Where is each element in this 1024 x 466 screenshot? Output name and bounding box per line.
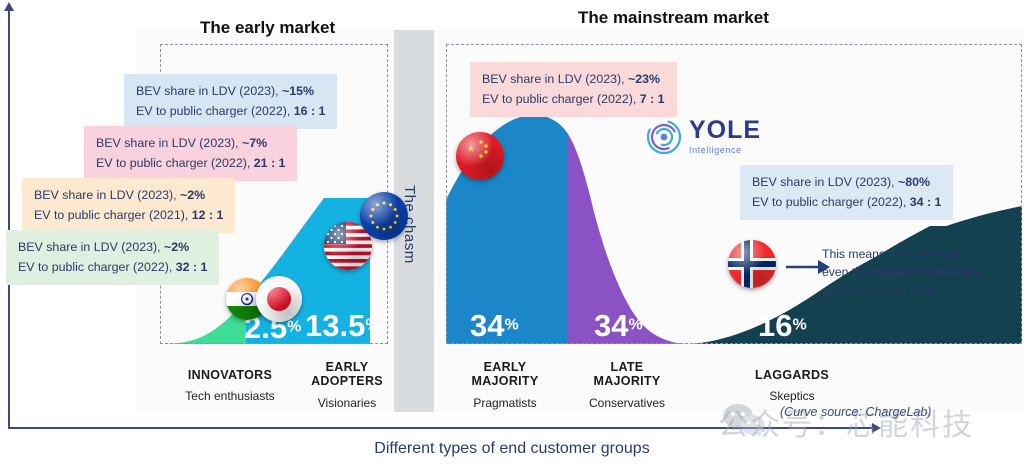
category-innovators: INNOVATORS Tech enthusiasts bbox=[160, 368, 300, 403]
callout-line-1: BEV share in LDV (2023), ~2% bbox=[18, 237, 207, 257]
callout-eu: BEV share in LDV (2023), ~15% EV to publ… bbox=[124, 74, 337, 129]
value-laggards: 16 bbox=[758, 308, 792, 343]
norway-note: This means that in Norway, even the lagg… bbox=[822, 245, 1012, 300]
category-name: INNOVATORS bbox=[160, 368, 300, 382]
curve-source-note: (Curve source: ChargeLab) bbox=[780, 405, 931, 419]
value-label-late-majority: 34% bbox=[594, 310, 643, 341]
callout-line-2: EV to public charger (2022), 7 : 1 bbox=[482, 89, 665, 109]
callout-line-2: EV to public charger (2021), 12 : 1 bbox=[34, 205, 223, 225]
category-name: EARLY MAJORITY bbox=[444, 360, 566, 389]
callout-line-2: EV to public charger (2022), 34 : 1 bbox=[752, 192, 941, 212]
callout-line-1: BEV share in LDV (2023), ~80% bbox=[752, 172, 941, 192]
chart-canvas: The early market The mainstream market T… bbox=[0, 0, 1024, 466]
value-label-early-adopters: 13.5% bbox=[305, 310, 380, 341]
value-label-laggards: 16% bbox=[758, 310, 807, 341]
category-subtitle: Tech enthusiasts bbox=[160, 389, 300, 403]
callout-line-2: EV to public charger (2022), 16 : 1 bbox=[136, 101, 325, 121]
percent-sign: % bbox=[792, 317, 806, 334]
category-early-adopters: EARLY ADOPTERS Visionaries bbox=[288, 360, 406, 410]
yole-logo: YOLE Intelligence bbox=[646, 118, 761, 155]
callout-line-1: BEV share in LDV (2023), ~2% bbox=[34, 185, 223, 205]
norway-note-line-2: even the laggard customers bbox=[822, 263, 1012, 281]
yole-wordmark: YOLE bbox=[689, 118, 761, 143]
category-name: LATE MAJORITY bbox=[566, 360, 688, 389]
category-laggards: LAGGARDS Skeptics bbox=[716, 368, 868, 403]
category-subtitle: Conservatives bbox=[566, 396, 688, 410]
callout-line-2: EV to public charger (2022), 32 : 1 bbox=[18, 257, 207, 277]
callout-norway: BEV share in LDV (2023), ~80% EV to publ… bbox=[740, 165, 953, 220]
callout-japan: BEV share in LDV (2023), ~2% EV to publi… bbox=[22, 178, 235, 233]
value-late-majority: 34 bbox=[594, 308, 628, 343]
callout-china: BEV share in LDV (2023), ~23% EV to publ… bbox=[470, 62, 677, 117]
mainstream-market-title: The mainstream market bbox=[578, 8, 769, 28]
value-label-early-majority: 34% bbox=[470, 310, 519, 341]
x-axis-caption: Different types of end customer groups bbox=[0, 440, 1024, 458]
percent-sign: % bbox=[365, 317, 379, 334]
percent-sign: % bbox=[628, 317, 642, 334]
callout-line-1: BEV share in LDV (2023), ~23% bbox=[482, 69, 665, 89]
yole-subwordmark: Intelligence bbox=[689, 145, 761, 155]
norway-note-line-3: are switching to BEV. bbox=[822, 282, 1012, 300]
yole-spiral-icon bbox=[646, 119, 682, 155]
category-subtitle: Visionaries bbox=[288, 396, 406, 410]
callout-usa: BEV share in LDV (2023), ~7% EV to publi… bbox=[84, 126, 297, 181]
category-subtitle: Pragmatists bbox=[444, 396, 566, 410]
wechat-logo-icon bbox=[722, 404, 766, 436]
early-market-title: The early market bbox=[200, 18, 335, 38]
callout-line-2: EV to public charger (2022), 21 : 1 bbox=[96, 153, 285, 173]
flag-eu-icon bbox=[360, 192, 408, 240]
percent-sign: % bbox=[287, 319, 301, 336]
value-early-adopters: 13.5 bbox=[305, 308, 365, 343]
percent-sign: % bbox=[504, 317, 518, 334]
category-name: EARLY ADOPTERS bbox=[288, 360, 406, 389]
callout-line-1: BEV share in LDV (2023), ~7% bbox=[96, 133, 285, 153]
callout-line-1: BEV share in LDV (2023), ~15% bbox=[136, 81, 325, 101]
norway-note-line-1: This means that in Norway, bbox=[822, 245, 1012, 263]
category-early-majority: EARLY MAJORITY Pragmatists bbox=[444, 360, 566, 410]
category-late-majority: LATE MAJORITY Conservatives bbox=[566, 360, 688, 410]
callout-india: BEV share in LDV (2023), ~2% EV to publi… bbox=[6, 230, 219, 285]
flag-china-icon bbox=[456, 132, 504, 180]
value-early-majority: 34 bbox=[470, 308, 504, 343]
category-name: LAGGARDS bbox=[716, 368, 868, 382]
flag-norway-icon bbox=[728, 240, 776, 288]
flag-japan-icon bbox=[256, 276, 302, 322]
